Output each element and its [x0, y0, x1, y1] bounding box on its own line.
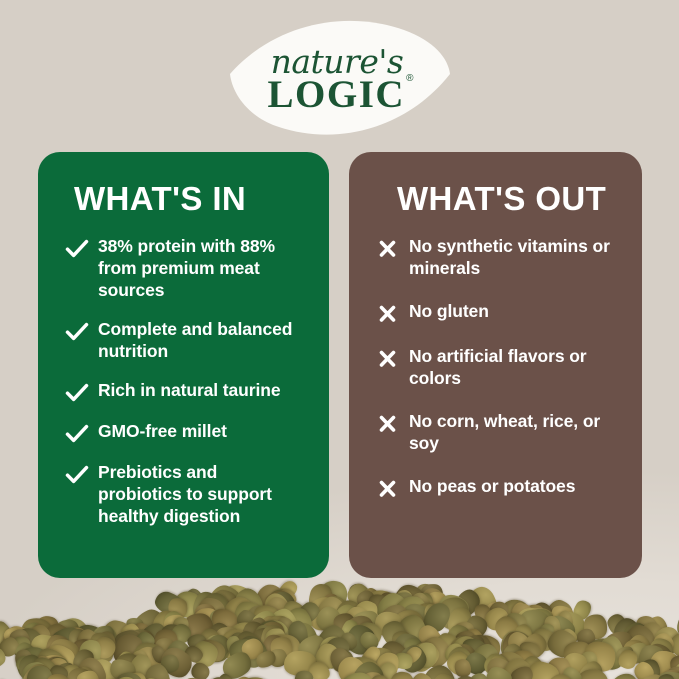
list-item-label: No gluten: [409, 300, 489, 322]
list-item: No peas or potatoes: [375, 475, 618, 499]
x-icon: [375, 347, 401, 371]
panel-whats-in: WHAT'S IN 38% protein with 88% from prem…: [38, 152, 329, 578]
promo-graphic: nature's LOGIC® WHAT'S IN 38% protein wi…: [0, 0, 679, 679]
logo-wordmark-text: LOGIC: [268, 73, 406, 116]
list-item-label: Prebiotics and probiotics to support hea…: [98, 461, 305, 527]
x-icon: [375, 237, 401, 261]
check-icon: [64, 320, 90, 344]
panel-whats-out: WHAT'S OUT No synthetic vitamins or mine…: [349, 152, 642, 578]
check-icon: [64, 237, 90, 261]
panel-title-whats-in: WHAT'S IN: [74, 182, 305, 215]
list-item-label: No artificial flavors or colors: [409, 345, 618, 389]
logo-wordmark: LOGIC®: [268, 76, 413, 113]
list-item: Prebiotics and probiotics to support hea…: [64, 461, 305, 527]
list-item-label: Complete and balanced nutrition: [98, 318, 305, 362]
registered-trademark-icon: ®: [406, 73, 413, 84]
list-item: Rich in natural taurine: [64, 379, 305, 403]
list-item-label: GMO-free millet: [98, 420, 227, 442]
logo-lockup: nature's LOGIC®: [228, 16, 452, 140]
kibble-product-image: [0, 556, 679, 679]
check-icon: [64, 422, 90, 446]
brand-logo: nature's LOGIC®: [228, 16, 452, 140]
list-item-label: No corn, wheat, rice, or soy: [409, 410, 618, 454]
list-item: Complete and balanced nutrition: [64, 318, 305, 362]
list-item-label: 38% protein with 88% from premium meat s…: [98, 235, 305, 301]
list-item: No artificial flavors or colors: [375, 345, 618, 389]
list-item: GMO-free millet: [64, 420, 305, 444]
list-item: No corn, wheat, rice, or soy: [375, 410, 618, 454]
list-item-label: Rich in natural taurine: [98, 379, 280, 401]
list-item: No gluten: [375, 300, 618, 324]
x-icon: [375, 412, 401, 436]
check-icon: [64, 381, 90, 405]
whats-out-list: No synthetic vitamins or minerals No glu…: [375, 235, 618, 499]
check-icon: [64, 463, 90, 487]
whats-in-list: 38% protein with 88% from premium meat s…: [64, 235, 305, 527]
x-icon: [375, 477, 401, 501]
list-item: No synthetic vitamins or minerals: [375, 235, 618, 279]
list-item-label: No synthetic vitamins or minerals: [409, 235, 618, 279]
list-item: 38% protein with 88% from premium meat s…: [64, 235, 305, 301]
list-item-label: No peas or potatoes: [409, 475, 575, 497]
x-icon: [375, 302, 401, 326]
panel-title-whats-out: WHAT'S OUT: [397, 182, 618, 215]
